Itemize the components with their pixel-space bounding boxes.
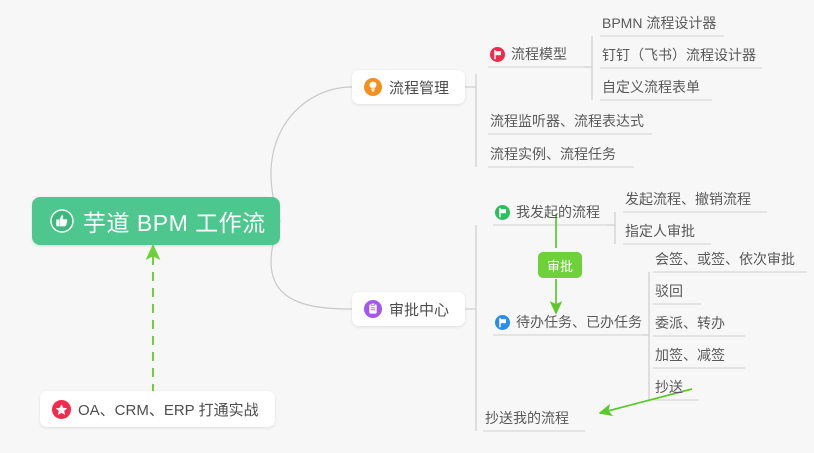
node-add-remove-sign[interactable]: 加签、减签	[653, 342, 727, 368]
node-delegate-transfer[interactable]: 委派、转办	[653, 310, 727, 336]
node-custom-process-form[interactable]: 自定义流程表单	[600, 74, 702, 100]
root-branch-edges	[271, 87, 352, 309]
node-listener-expression[interactable]: 流程监听器、流程表达式	[488, 108, 646, 134]
node-instance-task[interactable]: 流程实例、流程任务	[488, 141, 618, 167]
node-label-reject: 驳回	[655, 281, 683, 301]
node-label-cc-copy: 抄送	[655, 377, 683, 397]
node-start-cancel-process[interactable]: 发起流程、撤销流程	[623, 186, 753, 212]
node-bpmn-designer[interactable]: BPMN 流程设计器	[600, 10, 718, 36]
root-label: 芋道 BPM 工作流	[83, 204, 266, 238]
mindmap-canvas: 芋道 BPM 工作流 流程管理 流程模型 BPMN 流程设计器 钉钉（飞书）流程	[0, 0, 814, 453]
annotation-chip-label: 审批	[547, 256, 573, 275]
root-node[interactable]: 芋道 BPM 工作流	[32, 197, 280, 245]
flag-icon	[495, 315, 510, 330]
node-reject[interactable]: 驳回	[653, 278, 685, 304]
thumbs-up-icon	[50, 209, 74, 233]
star-icon	[52, 400, 71, 419]
node-label-start-cancel-process: 发起流程、撤销流程	[625, 189, 751, 209]
node-label-listener-expression: 流程监听器、流程表达式	[490, 111, 644, 131]
node-label-todo-done-tasks: 待办任务、已办任务	[516, 312, 642, 332]
node-label-my-initiated-process: 我发起的流程	[516, 202, 600, 222]
edge-root-to-approval-center	[271, 221, 352, 309]
node-todo-done-tasks[interactable]: 待办任务、已办任务	[493, 309, 644, 335]
node-my-initiated-process[interactable]: 我发起的流程	[493, 199, 602, 225]
node-label-dingtalk-feishu-designer: 钉钉（飞书）流程设计器	[602, 45, 756, 65]
node-cc-my-process[interactable]: 抄送我的流程	[483, 405, 571, 431]
node-countersign-orsign-sequential[interactable]: 会签、或签、依次审批	[653, 246, 797, 272]
node-label-process-model: 流程模型	[511, 44, 567, 64]
clipboard-icon	[364, 300, 382, 318]
branch-node-approval-center[interactable]: 审批中心	[352, 292, 465, 326]
node-label-add-remove-sign: 加签、减签	[655, 345, 725, 365]
callout-node-integration[interactable]: OA、CRM、ERP 打通实战	[40, 391, 275, 427]
branch-label-approval-center: 审批中心	[389, 299, 449, 320]
branch-node-process-management[interactable]: 流程管理	[352, 70, 465, 104]
lightbulb-icon	[364, 78, 382, 96]
node-dingtalk-feishu-designer[interactable]: 钉钉（飞书）流程设计器	[600, 42, 758, 68]
edge-root-to-process-management	[271, 87, 352, 221]
node-label-countersign-orsign-sequential: 会签、或签、依次审批	[655, 249, 795, 269]
node-process-model[interactable]: 流程模型	[488, 41, 569, 67]
node-label-cc-my-process: 抄送我的流程	[485, 408, 569, 428]
flag-icon	[495, 205, 510, 220]
annotation-chip-approval: 审批	[538, 252, 582, 278]
node-assigned-approver[interactable]: 指定人审批	[623, 218, 697, 244]
callout-label-integration: OA、CRM、ERP 打通实战	[78, 399, 259, 420]
flag-icon	[490, 47, 505, 62]
node-label-custom-process-form: 自定义流程表单	[602, 77, 700, 97]
node-label-assigned-approver: 指定人审批	[625, 221, 695, 241]
node-label-delegate-transfer: 委派、转办	[655, 313, 725, 333]
node-label-instance-task: 流程实例、流程任务	[490, 144, 616, 164]
branch-label-process-management: 流程管理	[389, 77, 449, 98]
node-cc-copy[interactable]: 抄送	[653, 374, 685, 400]
node-label-bpmn-designer: BPMN 流程设计器	[602, 13, 716, 33]
